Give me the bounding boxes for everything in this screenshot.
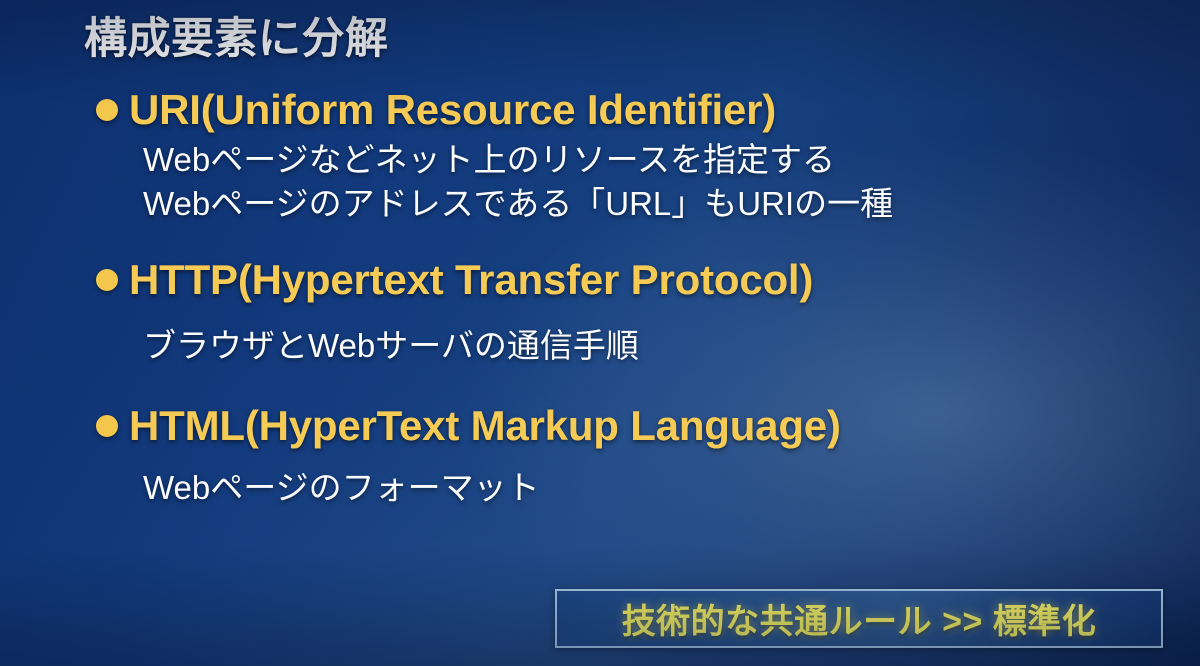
slide-canvas: 構成要素に分解 URI(Uniform Resource Identifier)… bbox=[0, 0, 1200, 666]
bullet-dot-icon bbox=[96, 99, 118, 121]
bullet-heading-uri: URI(Uniform Resource Identifier) bbox=[129, 86, 776, 134]
bullet-heading-http: HTTP(Hypertext Transfer Protocol) bbox=[129, 256, 813, 304]
description-line: ブラウザとWebサーバの通信手順 bbox=[143, 324, 1200, 368]
bullet-heading-row-uri: URI(Uniform Resource Identifier) bbox=[0, 86, 1200, 134]
bullet-description-uri: Webページなどネット上のリソースを指定する Webページのアドレスである「UR… bbox=[0, 138, 1200, 226]
bullet-heading-row-http: HTTP(Hypertext Transfer Protocol) bbox=[0, 256, 1200, 304]
bullet-heading-html: HTML(HyperText Markup Language) bbox=[129, 402, 841, 450]
list-item: URI(Uniform Resource Identifier) Webページな… bbox=[0, 86, 1200, 226]
bullet-heading-row-html: HTML(HyperText Markup Language) bbox=[0, 402, 1200, 450]
list-item: HTML(HyperText Markup Language) Webページのフ… bbox=[0, 402, 1200, 510]
page-title: 構成要素に分解 bbox=[84, 4, 389, 66]
highlight-callout-text: 技術的な共通ルール >> 標準化 bbox=[622, 594, 1097, 643]
bullet-dot-icon bbox=[96, 415, 118, 437]
bullet-dot-icon bbox=[96, 269, 118, 291]
description-line: Webページのアドレスである「URL」もURIの一種 bbox=[143, 182, 1200, 226]
list-item: HTTP(Hypertext Transfer Protocol) ブラウザとW… bbox=[0, 256, 1200, 368]
highlight-callout-box: 技術的な共通ルール >> 標準化 bbox=[555, 589, 1163, 648]
description-line: Webページのフォーマット bbox=[143, 466, 1200, 510]
bullet-description-html: Webページのフォーマット bbox=[0, 466, 1200, 510]
description-line: Webページなどネット上のリソースを指定する bbox=[143, 138, 1200, 182]
bullet-list: URI(Uniform Resource Identifier) Webページな… bbox=[0, 86, 1200, 510]
bullet-description-http: ブラウザとWebサーバの通信手順 bbox=[0, 324, 1200, 368]
